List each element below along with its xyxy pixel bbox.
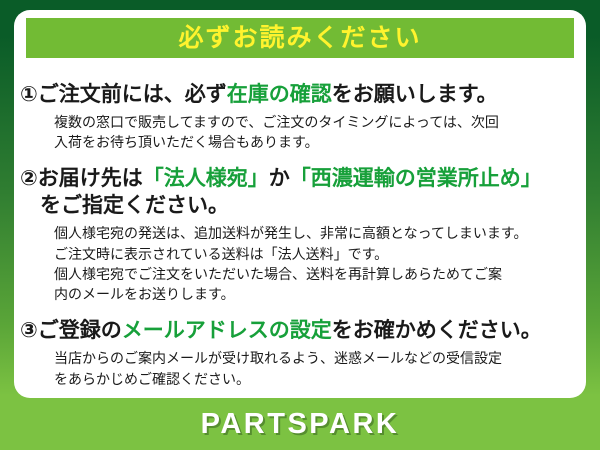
notice-item-1: ①ご注文前には、必ず在庫の確認をお願いします。 複数の窓口で販売してますので、ご…	[14, 82, 586, 152]
notice-title-bar: 必ずお読みください	[26, 18, 574, 58]
notice-item-1-heading-seg-1: ①ご注文前には、必ず	[20, 83, 227, 106]
notice-item-3-body-line-2: をあらかじめご確認ください。	[14, 369, 586, 389]
notice-item-3-heading: ③ご登録のメールアドレスの設定をお確かめください。	[14, 318, 586, 345]
notice-content: ①ご注文前には、必ず在庫の確認をお願いします。 複数の窓口で販売してますので、ご…	[14, 66, 586, 391]
notice-item-3-body-line-1: 当店からのご案内メールが受け取れるよう、迷惑メールなどの受信設定	[14, 348, 586, 368]
notice-item-3: ③ご登録のメールアドレスの設定をお確かめください。 当店からのご案内メールが受け…	[14, 318, 586, 388]
notice-item-1-heading-highlight: 在庫の確認	[227, 83, 332, 106]
notice-item-2-body-line-1: 個人様宅宛の発送は、追加送料が発生し、非常に高額となってしまいます。	[14, 223, 586, 243]
notice-item-2-body-line-4: 内のメールをお送りします。	[14, 284, 586, 304]
notice-item-2-heading-highlight-2: 「西濃運輸の営業所止め」	[290, 167, 542, 190]
brand-logo-text: PARTSPARK	[201, 408, 400, 441]
notice-item-3-body: 当店からのご案内メールが受け取れるよう、迷惑メールなどの受信設定 をあらかじめご…	[14, 348, 586, 389]
notice-item-1-body-line-1: 複数の窓口で販売してますので、ご注文のタイミングによっては、次回	[14, 112, 586, 132]
notice-item-2-heading-line-1: ②お届け先は「法人様宛」か「西濃運輸の営業所止め」	[14, 166, 586, 193]
notice-item-2-body-line-2: ご注文時に表示されている送料は「法人送料」です。	[14, 244, 586, 264]
notice-item-1-heading-seg-3: をお願いします。	[332, 83, 498, 106]
notice-item-2-body: 個人様宅宛の発送は、追加送料が発生し、非常に高額となってしまいます。 ご注文時に…	[14, 223, 586, 304]
notice-item-2-heading-highlight-1: 「法人様宛」	[143, 167, 269, 190]
notice-item-3-heading-highlight: メールアドレスの設定	[122, 319, 332, 342]
notice-item-2-heading-line-2: をご指定ください。	[14, 193, 586, 220]
notice-item-3-heading-seg-3: をお確かめください。	[332, 319, 542, 342]
footer-bar: PARTSPARK	[0, 398, 600, 450]
page-title: 必ずお読みください	[178, 26, 421, 51]
notice-card: 必ずお読みください ①ご注文前には、必ず在庫の確認をお願いします。 複数の窓口で…	[14, 10, 586, 398]
notice-item-2: ②お届け先は「法人様宛」か「西濃運輸の営業所止め」 をご指定ください。 個人様宅…	[14, 166, 586, 304]
notice-item-2-body-line-3: 個人様宅宛でご注文をいただいた場合、送料を再計算しあらためてご案	[14, 264, 586, 284]
notice-item-2-heading-seg-1: ②お届け先は	[20, 167, 143, 190]
notice-item-3-heading-seg-1: ③ご登録の	[20, 319, 122, 342]
notice-item-1-body-line-2: 入荷をお待ち頂いただく場合もあります。	[14, 132, 586, 152]
notice-banner: 必ずお読みください ①ご注文前には、必ず在庫の確認をお願いします。 複数の窓口で…	[0, 0, 600, 450]
notice-item-1-heading: ①ご注文前には、必ず在庫の確認をお願いします。	[14, 82, 586, 109]
notice-item-1-body: 複数の窓口で販売してますので、ご注文のタイミングによっては、次回 入荷をお待ち頂…	[14, 112, 586, 153]
notice-item-2-heading-seg-3: か	[269, 167, 290, 190]
notice-item-2-heading-line-2-text: をご指定ください。	[40, 194, 229, 217]
